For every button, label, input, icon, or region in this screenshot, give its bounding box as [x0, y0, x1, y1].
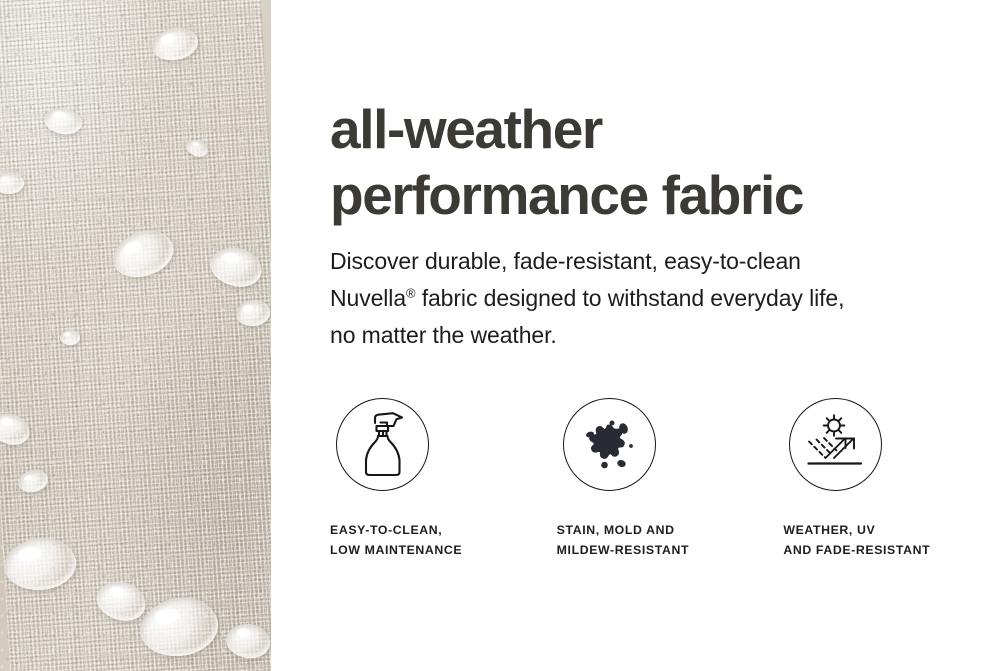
body-line-2: fabric designed to withstand everyday li…	[415, 285, 844, 311]
content-panel: all-weatherperformance fabric Discover d…	[271, 0, 1005, 671]
body-line-3: no matter the weather.	[330, 322, 557, 348]
icon-circle	[563, 398, 656, 491]
stain-splat-icon	[577, 413, 641, 477]
icon-circle	[789, 398, 882, 491]
sun-uv-reflect-icon	[803, 412, 869, 478]
headline-line-2: performance fabric	[330, 164, 803, 226]
icon-circle	[336, 398, 429, 491]
spray-bottle-icon	[353, 410, 413, 480]
feature-item-easy-to-clean: EASY-TO-CLEAN, LOW MAINTENANCE	[330, 398, 557, 560]
brand-name: Nuvella	[330, 285, 406, 311]
body-line-1: Discover durable, fade-resistant, easy-t…	[330, 248, 801, 274]
feature-item-stain-resistant: STAIN, MOLD AND MILDEW-RESISTANT	[557, 398, 784, 560]
registered-trademark-icon: ®	[406, 285, 415, 300]
feature-list: EASY-TO-CLEAN, LOW MAINTENANCE STAIN, M	[330, 398, 1005, 560]
fabric-photo	[0, 0, 271, 671]
feature-caption: STAIN, MOLD AND MILDEW-RESISTANT	[557, 520, 784, 560]
feature-caption: EASY-TO-CLEAN, LOW MAINTENANCE	[330, 520, 557, 560]
page-title: all-weatherperformance fabric	[330, 96, 990, 228]
body-copy: Discover durable, fade-resistant, easy-t…	[330, 243, 970, 354]
promo-banner: all-weatherperformance fabric Discover d…	[0, 0, 1005, 671]
feature-caption: WEATHER, UV AND FADE-RESISTANT	[783, 520, 1005, 560]
feature-item-weather-uv-resistant: WEATHER, UV AND FADE-RESISTANT	[783, 398, 1005, 560]
headline-line-1: all-weather	[330, 98, 602, 160]
